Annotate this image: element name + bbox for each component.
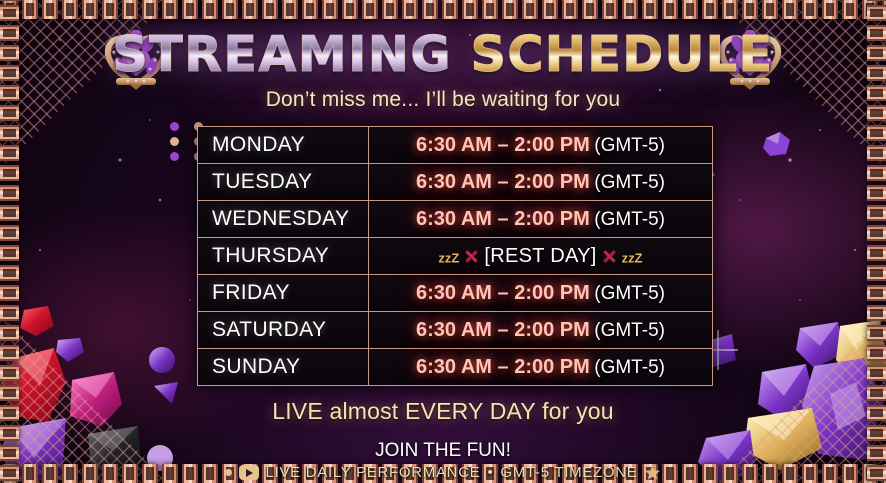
schedule-row: MONDAY6:30 AM – 2:00 PM (GMT-5)	[198, 127, 713, 164]
time-range: 6:30 AM – 2:00 PM	[416, 319, 590, 341]
gem-dot-rose	[170, 137, 179, 146]
rest-day-label: [REST DAY]	[484, 245, 596, 267]
schedule-row: WEDNESDAY6:30 AM – 2:00 PM (GMT-5)	[198, 201, 713, 238]
day-cell: WEDNESDAY	[198, 201, 369, 238]
day-cell: THURSDAY	[198, 238, 369, 275]
timezone-label: (GMT-5)	[594, 283, 665, 304]
time-cell: 6:30 AM – 2:00 PM (GMT-5)	[369, 349, 713, 386]
join-callout: JOIN THE FUN!	[0, 440, 886, 462]
bullet-dot-icon	[225, 469, 232, 476]
time-cell: 6:30 AM – 2:00 PM (GMT-5)	[369, 201, 713, 238]
day-cell: FRIDAY	[198, 275, 369, 312]
day-cell: MONDAY	[198, 127, 369, 164]
time-range: 6:30 AM – 2:00 PM	[416, 282, 590, 304]
title-gold-part: SCHEDULE	[471, 26, 774, 83]
schedule-row: THURSDAYzzZ[REST DAY]zzZ	[198, 238, 713, 275]
timezone-label: (GMT-5)	[594, 172, 665, 193]
footer-meta-right: GMT-5 TIMEZONE	[500, 464, 637, 481]
chain-border-top	[0, 0, 886, 19]
rest-x-icon	[600, 247, 619, 266]
schedule-table-body: MONDAY6:30 AM – 2:00 PM (GMT-5)TUESDAY6:…	[198, 127, 713, 386]
schedule-row: SATURDAY6:30 AM – 2:00 PM (GMT-5)	[198, 312, 713, 349]
time-cell: 6:30 AM – 2:00 PM (GMT-5)	[369, 312, 713, 349]
subtitle: Don’t miss me... I’ll be waiting for you	[0, 88, 886, 112]
live-tagline: LIVE almost EVERY DAY for you	[0, 398, 886, 425]
day-cell: SATURDAY	[198, 312, 369, 349]
title-silver-part: STREAMING	[112, 26, 470, 83]
time-cell: 6:30 AM – 2:00 PM (GMT-5)	[369, 164, 713, 201]
timezone-label: (GMT-5)	[594, 320, 665, 341]
sleep-zzz-left: zzZ	[438, 250, 459, 265]
youtube-play-icon	[239, 465, 259, 480]
time-cell: 6:30 AM – 2:00 PM (GMT-5)	[369, 275, 713, 312]
sleep-zzz-right: zzZ	[622, 250, 643, 265]
schedule-table: MONDAY6:30 AM – 2:00 PM (GMT-5)TUESDAY6:…	[197, 126, 713, 386]
timezone-label: (GMT-5)	[594, 357, 665, 378]
time-cell: 6:30 AM – 2:00 PM (GMT-5)	[369, 127, 713, 164]
title-block: STREAMING SCHEDULE	[0, 26, 886, 83]
schedule-row: TUESDAY6:30 AM – 2:00 PM (GMT-5)	[198, 164, 713, 201]
time-range: 6:30 AM – 2:00 PM	[416, 356, 590, 378]
day-cell: SUNDAY	[198, 349, 369, 386]
time-cell: zzZ[REST DAY]zzZ	[369, 238, 713, 275]
time-range: 6:30 AM – 2:00 PM	[416, 134, 590, 156]
gem-dot-purple	[170, 152, 179, 161]
footer-meta-left: LIVE DAILY PERFORMANCE	[266, 464, 481, 481]
star-icon	[644, 464, 661, 481]
timezone-label: (GMT-5)	[594, 209, 665, 230]
footer-bar: LIVE DAILY PERFORMANCE • GMT-5 TIMEZONE	[0, 464, 886, 481]
schedule-graphic: STREAMING SCHEDULE Don’t miss me... I’ll…	[0, 0, 886, 483]
schedule-row: FRIDAY6:30 AM – 2:00 PM (GMT-5)	[198, 275, 713, 312]
gem-small-topright	[760, 128, 794, 162]
timezone-label: (GMT-5)	[594, 135, 665, 156]
day-cell: TUESDAY	[198, 164, 369, 201]
time-range: 6:30 AM – 2:00 PM	[416, 171, 590, 193]
footer-separator: •	[487, 464, 493, 481]
schedule-row: SUNDAY6:30 AM – 2:00 PM (GMT-5)	[198, 349, 713, 386]
gem-dot-purple	[170, 122, 179, 131]
page-title: STREAMING SCHEDULE	[112, 26, 773, 83]
rest-x-icon	[462, 247, 481, 266]
time-range: 6:30 AM – 2:00 PM	[416, 208, 590, 230]
